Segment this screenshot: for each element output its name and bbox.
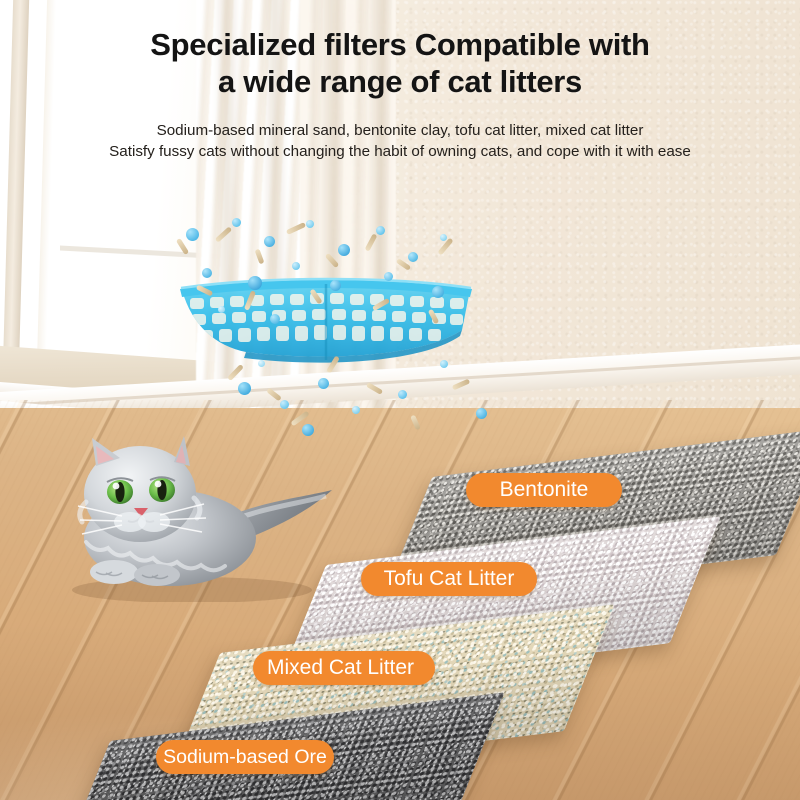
litter-badge-label: Sodium-based Ore bbox=[163, 746, 327, 769]
subtitle-line-1: Sodium-based mineral sand, bentonite cla… bbox=[157, 122, 644, 139]
litter-badge-label: Mixed Cat Litter bbox=[267, 656, 414, 680]
litter-badge-mixed: Mixed Cat Litter bbox=[253, 651, 435, 685]
product-marketing-image: Bentonite Tofu Cat Litter Mixed Cat Litt… bbox=[0, 0, 800, 800]
page-headline: Specialized filters Compatible with a wi… bbox=[0, 26, 800, 100]
headline-line-1: Specialized filters Compatible with bbox=[150, 27, 649, 62]
litter-badge-sodium: Sodium-based Ore bbox=[156, 740, 334, 774]
page-subtitle: Sodium-based mineral sand, bentonite cla… bbox=[0, 120, 800, 162]
cat-illustration bbox=[62, 432, 338, 602]
litter-badge-label: Bentonite bbox=[500, 478, 589, 502]
litter-badge-tofu: Tofu Cat Litter bbox=[361, 562, 537, 596]
litter-badge-bentonite: Bentonite bbox=[466, 473, 622, 507]
falling-litter-particles bbox=[140, 210, 520, 450]
headline-line-2: a wide range of cat litters bbox=[0, 63, 800, 100]
litter-badge-label: Tofu Cat Litter bbox=[384, 567, 515, 591]
subtitle-line-2: Satisfy fussy cats without changing the … bbox=[0, 141, 800, 162]
